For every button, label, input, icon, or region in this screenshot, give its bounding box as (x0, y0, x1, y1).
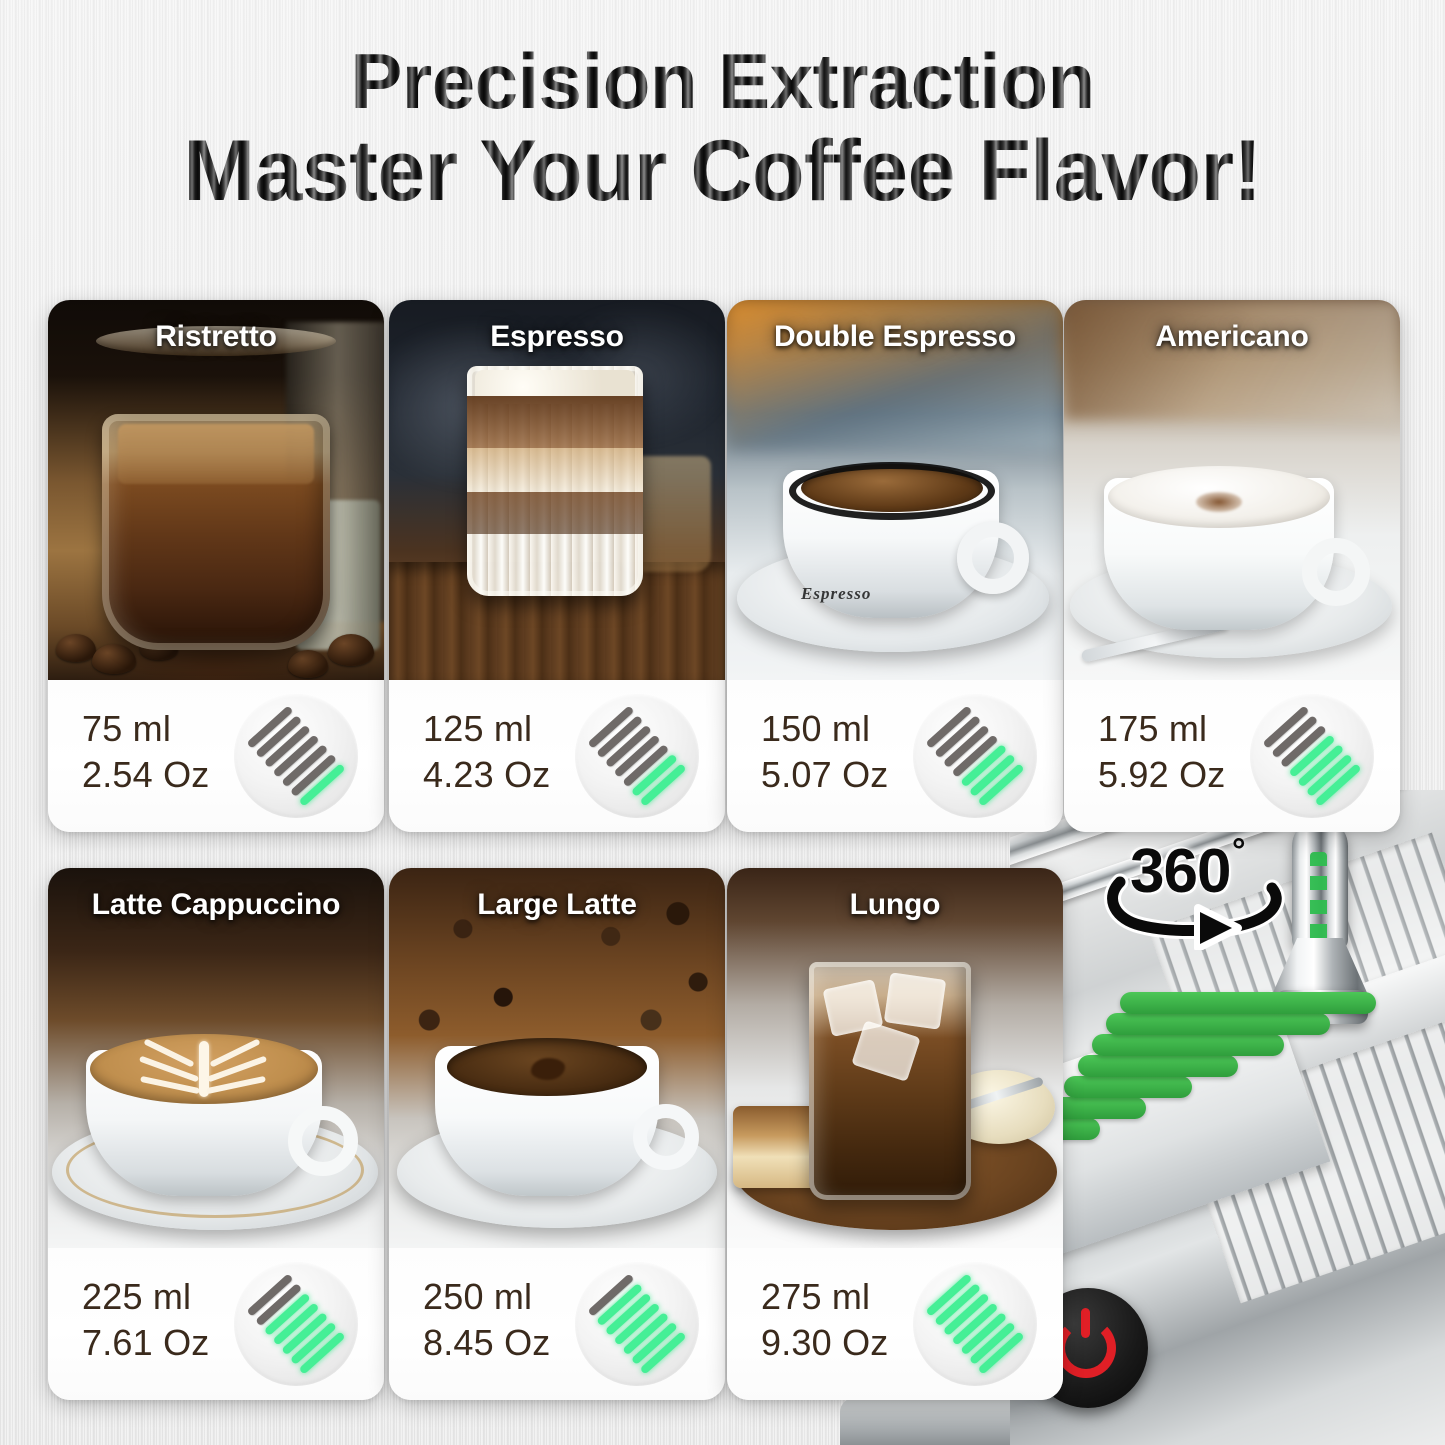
power-icon-stem (1081, 1308, 1090, 1338)
drink-volume-ml: 275 ml (761, 1276, 870, 1317)
drink-photo: Ristretto (48, 300, 384, 680)
drink-volume-oz: 9.30 Oz (761, 1320, 888, 1366)
drink-volume-ml: 125 ml (423, 708, 532, 749)
drink-volume-ml: 75 ml (82, 708, 171, 749)
drink-title: Large Latte (389, 888, 725, 922)
coffee-layer-2 (467, 492, 643, 534)
drink-volume-oz: 4.23 Oz (423, 752, 550, 798)
drink-volume: 175 ml 5.92 Oz (1098, 706, 1225, 797)
strength-badge[interactable] (1250, 694, 1374, 818)
coffee-bean (56, 634, 96, 662)
strength-badge[interactable] (234, 694, 358, 818)
ice-cube (884, 972, 946, 1029)
photo-americano (1064, 300, 1400, 680)
drink-volume: 150 ml 5.07 Oz (761, 706, 888, 797)
drink-info: 75 ml 2.54 Oz (48, 680, 384, 832)
drink-card-latte-cappuccino[interactable]: Latte Cappuccino 225 ml 7.61 Oz (48, 868, 384, 1400)
drink-title: Double Espresso (727, 320, 1063, 354)
drink-info: 275 ml 9.30 Oz (727, 1248, 1063, 1400)
strength-bars (587, 1273, 686, 1374)
strength-bars (246, 705, 345, 806)
photo-espresso (389, 300, 725, 680)
cup-handle (957, 522, 1029, 594)
cup-handle (633, 1104, 699, 1170)
strength-bars (1262, 705, 1361, 806)
photo-double-espresso: Espresso (727, 300, 1063, 680)
drink-card-lungo[interactable]: Lungo 275 ml 9.30 Oz (727, 868, 1063, 1400)
drink-title: Espresso (389, 320, 725, 354)
machine-green-bar (1050, 1097, 1146, 1119)
drink-volume: 125 ml 4.23 Oz (423, 706, 550, 797)
drink-volume-oz: 5.92 Oz (1098, 752, 1225, 798)
machine-green-bar (1078, 1055, 1238, 1077)
drink-title: Latte Cappuccino (48, 888, 384, 922)
drink-photo: Latte Cappuccino (48, 868, 384, 1248)
drink-volume: 250 ml 8.45 Oz (423, 1274, 550, 1365)
drink-card-ristretto[interactable]: Ristretto 75 ml 2.54 Oz (48, 300, 384, 832)
machine-green-bar (1106, 1013, 1330, 1035)
cup-handle (288, 1106, 358, 1176)
ribbed-glass (467, 366, 643, 596)
drink-volume: 75 ml 2.54 Oz (82, 706, 209, 797)
drink-volume-oz: 5.07 Oz (761, 752, 888, 798)
photo-ristretto (48, 300, 384, 680)
drink-photo: Large Latte (389, 868, 725, 1248)
drink-volume-ml: 150 ml (761, 708, 870, 749)
headline-line-1: Precision Extraction (0, 42, 1445, 122)
drink-photo: Lungo (727, 868, 1063, 1248)
drink-card-americano[interactable]: Americano 175 ml 5.92 Oz (1064, 300, 1400, 832)
machine-green-bar (1092, 1034, 1284, 1056)
knob-green-indicator (1310, 852, 1327, 948)
drink-volume-oz: 8.45 Oz (423, 1320, 550, 1366)
strength-bars (246, 1273, 345, 1374)
drink-volume-ml: 250 ml (423, 1276, 532, 1317)
milk-layer (467, 448, 643, 492)
coffee-bean (288, 650, 328, 678)
headline-line-2: Master Your Coffee Flavor! (0, 128, 1445, 216)
promo-banner: Precision Extraction Master Your Coffee … (0, 0, 1445, 1445)
drink-title: Ristretto (48, 320, 384, 354)
strength-badge[interactable] (234, 1262, 358, 1386)
drink-volume-oz: 2.54 Oz (82, 752, 209, 798)
drink-photo: Americano (1064, 300, 1400, 680)
tall-glass (809, 962, 971, 1200)
strength-bars (925, 705, 1024, 806)
cocoa-dusting (1196, 492, 1242, 512)
strength-bars (925, 1273, 1024, 1374)
machine-green-bar (1120, 992, 1376, 1014)
crema-layer (118, 424, 314, 484)
drink-card-espresso[interactable]: Espresso 125 ml 4.23 Oz (389, 300, 725, 832)
coffee-layer-1 (467, 396, 643, 448)
coffee-bean (328, 634, 374, 666)
double-wall-glass (102, 414, 330, 650)
cup-handle (1302, 538, 1370, 606)
coffee-bean (92, 644, 136, 674)
drink-card-double-espresso[interactable]: Espresso Double Espresso 150 ml 5.07 Oz (727, 300, 1063, 832)
drink-info: 125 ml 4.23 Oz (389, 680, 725, 832)
background-blur (1064, 300, 1400, 420)
drink-title: Americano (1064, 320, 1400, 354)
cup-rim-band (789, 462, 995, 520)
ice-cube (851, 1020, 920, 1082)
drink-title: Lungo (727, 888, 1063, 922)
strength-badge[interactable] (913, 1262, 1037, 1386)
drink-info: 250 ml 8.45 Oz (389, 1248, 725, 1400)
drink-info: 150 ml 5.07 Oz (727, 680, 1063, 832)
drink-info: 225 ml 7.61 Oz (48, 1248, 384, 1400)
machine-green-bar (1064, 1076, 1192, 1098)
photo-latte-cappuccino (48, 868, 384, 1248)
rotation-360-graphic: 360 ° (1102, 830, 1292, 950)
rotation-360-label: 360 (1130, 836, 1230, 907)
drink-volume: 225 ml 7.61 Oz (82, 1274, 209, 1365)
drink-volume-ml: 175 ml (1098, 708, 1207, 749)
strength-badge[interactable] (913, 694, 1037, 818)
drink-info: 175 ml 5.92 Oz (1064, 680, 1400, 832)
drink-volume: 275 ml 9.30 Oz (761, 1274, 888, 1365)
photo-large-latte (389, 868, 725, 1248)
headline-block: Precision Extraction Master Your Coffee … (0, 42, 1445, 215)
drink-photo: Espresso (389, 300, 725, 680)
drink-volume-ml: 225 ml (82, 1276, 191, 1317)
strength-badge[interactable] (575, 694, 699, 818)
machine-green-level-bars (1028, 990, 1328, 1150)
drink-photo: Espresso Double Espresso (727, 300, 1063, 680)
degree-symbol: ° (1232, 832, 1246, 871)
latte-art-surface (90, 1034, 318, 1104)
photo-lungo (727, 868, 1063, 1248)
strength-badge[interactable] (575, 1262, 699, 1386)
drink-volume-oz: 7.61 Oz (82, 1320, 209, 1366)
strength-bars (587, 705, 686, 806)
drink-card-large-latte[interactable]: Large Latte 250 ml 8.45 Oz (389, 868, 725, 1400)
cup-logo-text: Espresso (801, 584, 871, 604)
